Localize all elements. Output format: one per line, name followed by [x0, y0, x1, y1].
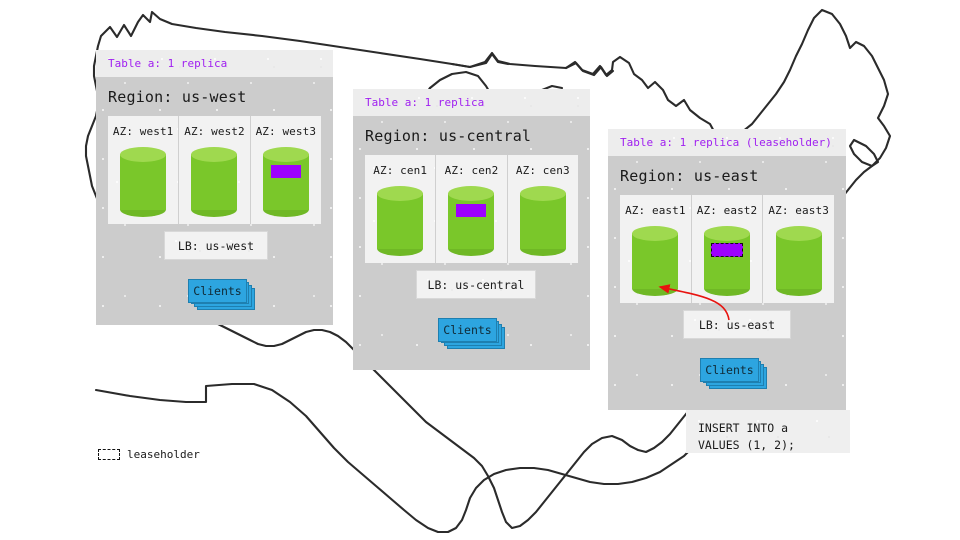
az-cell-cen2[interactable]: AZ: cen2 [435, 155, 506, 263]
leaseholder-swatch-icon [98, 449, 120, 460]
cylinder-body [120, 154, 166, 210]
az-cell-cen1[interactable]: AZ: cen1 [365, 155, 435, 263]
cylinder-body [520, 193, 566, 249]
az-label-cen1: AZ: cen1 [373, 164, 427, 177]
az-label-east2: AZ: east2 [697, 204, 758, 217]
region-title-us-central: Region: us-central [353, 116, 590, 154]
cylinder-top [776, 226, 822, 241]
load-balancer-us-west[interactable]: LB: us-west [164, 231, 268, 260]
cylinder-top [520, 186, 566, 201]
az-row-us-west: AZ: west1 AZ: west2 AZ: west3 [108, 116, 321, 224]
clients-button-us-west[interactable]: Clients [188, 279, 247, 303]
region-panel-us-central[interactable]: Table a: 1 replica Region: us-central AZ… [353, 89, 590, 370]
region-panel-us-west[interactable]: Table a: 1 replica Region: us-west AZ: w… [96, 50, 333, 325]
cylinder-top [632, 226, 678, 241]
region-title-us-west: Region: us-west [96, 77, 333, 115]
az-label-cen2: AZ: cen2 [445, 164, 499, 177]
clients-stack-us-central[interactable]: Clients [438, 318, 506, 351]
az-label-west2: AZ: west2 [184, 125, 245, 138]
region-panel-us-east[interactable]: Table a: 1 replica (leaseholder) Region:… [608, 129, 846, 410]
az-label-west3: AZ: west3 [256, 125, 317, 138]
node-cylinder-west1[interactable] [120, 147, 166, 217]
clients-button-us-east[interactable]: Clients [700, 358, 759, 382]
node-cylinder-west2[interactable] [191, 147, 237, 217]
az-row-us-central: AZ: cen1 AZ: cen2 AZ: cen3 [365, 155, 578, 263]
cylinder-top [704, 226, 750, 241]
clients-stack-us-east[interactable]: Clients [700, 358, 768, 391]
load-balancer-us-central[interactable]: LB: us-central [416, 270, 536, 299]
step-2-arrow [636, 278, 766, 326]
cylinder-top [120, 147, 166, 162]
sql-statement-box: INSERT INTO a VALUES (1, 2); [686, 410, 850, 453]
clients-button-us-central[interactable]: Clients [438, 318, 497, 342]
replica-block-leaseholder-east2 [711, 243, 743, 257]
az-cell-west1[interactable]: AZ: west1 [108, 116, 178, 224]
az-cell-west3[interactable]: AZ: west3 [250, 116, 321, 224]
cylinder-body [448, 193, 494, 249]
az-cell-cen3[interactable]: AZ: cen3 [507, 155, 578, 263]
az-cell-east3[interactable]: AZ: east3 [762, 195, 834, 303]
node-cylinder-cen3[interactable] [520, 186, 566, 256]
node-cylinder-cen1[interactable] [377, 186, 423, 256]
cylinder-top [263, 147, 309, 162]
region-title-us-east: Region: us-east [608, 156, 846, 194]
region-header-us-east: Table a: 1 replica (leaseholder) [608, 129, 846, 156]
cylinder-body [377, 193, 423, 249]
region-header-us-central: Table a: 1 replica [353, 89, 590, 116]
cylinder-body [191, 154, 237, 210]
cylinder-body [263, 154, 309, 210]
node-cylinder-east3[interactable] [776, 226, 822, 296]
az-label-east3: AZ: east3 [768, 204, 829, 217]
cylinder-top [377, 186, 423, 201]
replica-block-cen2 [456, 204, 486, 217]
diagram-canvas: Table a: 1 replica Region: us-west AZ: w… [0, 0, 960, 540]
az-label-west1: AZ: west1 [113, 125, 174, 138]
replica-block-west3 [271, 165, 301, 178]
az-cell-west2[interactable]: AZ: west2 [178, 116, 249, 224]
cylinder-body [776, 233, 822, 289]
az-label-east1: AZ: east1 [625, 204, 686, 217]
region-header-us-west: Table a: 1 replica [96, 50, 333, 77]
node-cylinder-west3[interactable] [263, 147, 309, 217]
clients-stack-us-west[interactable]: Clients [188, 279, 256, 312]
az-label-cen3: AZ: cen3 [516, 164, 570, 177]
node-cylinder-cen2[interactable] [448, 186, 494, 256]
legend-label-text: leaseholder [127, 448, 200, 461]
legend-leaseholder: leaseholder [98, 448, 200, 461]
